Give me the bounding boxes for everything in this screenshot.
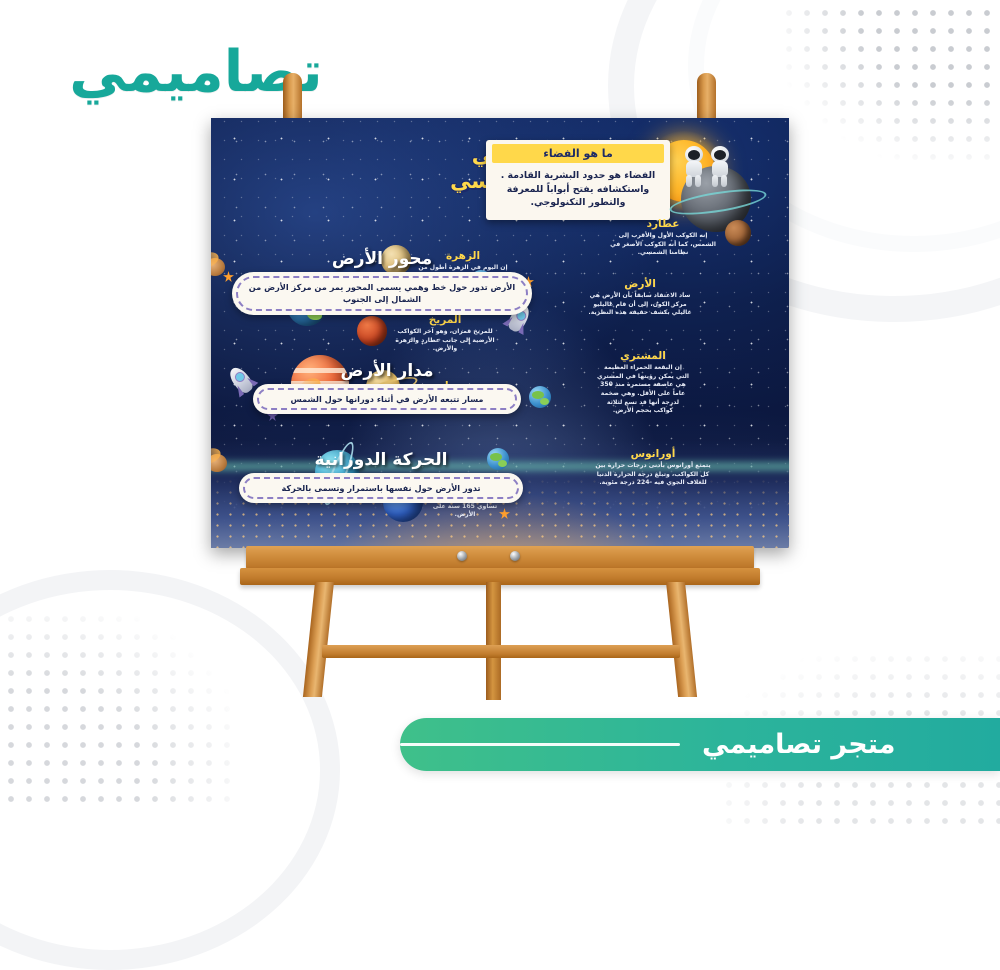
planet-name: أورانوس (595, 448, 711, 460)
planet-mercury-icon (725, 220, 751, 246)
planet-description: إن البقعة الحمراء العظيمة التي يمكن رؤيت… (597, 364, 689, 416)
brand-logo: تصاميمي (86, 26, 306, 118)
easel-leg-right (666, 582, 697, 697)
rocket-window (233, 370, 247, 384)
halftone-dots-bottom-left (0, 610, 234, 810)
astronaut-visor (688, 150, 700, 160)
easel-leg-center (486, 582, 501, 700)
planet-name: عطارد (607, 218, 719, 230)
planet-description: يتمتع أورانوس بأدنى درجات حرارة بين كل ا… (595, 462, 711, 488)
space-card-body: الفضاء هو حدود البشرية القادمة . واستكشا… (495, 169, 661, 210)
halftone-dots-top-right (780, 0, 1000, 161)
section-bubble: الأرض تدور حول خط وهمي يسمى المحور يمر م… (232, 272, 532, 315)
easel-leg-left (303, 582, 334, 697)
astronaut-leg (721, 175, 727, 187)
planet-description: للمريخ قمران، وهو آخر الكواكب الأرضية إل… (393, 328, 497, 354)
easel-crossbar (322, 645, 680, 658)
section-earth-axis: محور الأرض الأرض تدور حول خط وهمي يسمى ا… (232, 249, 532, 315)
store-footer-bar: متجر تصاميمي (400, 718, 1000, 771)
planet-entry-earth: الأرض ساد الاعتقاد سابقاً بأن الأرض هي م… (587, 278, 693, 318)
section-bubble: تدور الأرض حول نفسها باستمرار وتسمى بالح… (239, 473, 523, 503)
section-bubble: مسار تتبعه الأرض في أثناء دورانها حول ال… (253, 384, 521, 414)
section-text: الأرض تدور حول خط وهمي يسمى المحور يمر م… (246, 281, 518, 306)
planet-mars-icon (357, 316, 387, 346)
footer-rule (400, 743, 680, 746)
background-swoosh-bottom-left (0, 570, 340, 970)
section-title: الحركة الدورانية (239, 450, 523, 470)
astronaut-icon-left (683, 146, 705, 186)
easel-screw (510, 551, 520, 561)
planet-name: الأرض (587, 278, 693, 290)
section-title: مدار الأرض (253, 361, 521, 381)
planet-name: المشتري (597, 350, 689, 362)
astronaut-icon-right (709, 146, 731, 186)
easel-ledge-upper (246, 546, 754, 569)
section-text: تدور الأرض حول نفسها باستمرار وتسمى بالح… (253, 482, 509, 494)
easel-screw (457, 551, 467, 561)
planet-entry-uranus: أورانوس يتمتع أورانوس بأدنى درجات حرارة … (595, 448, 711, 488)
section-earth-orbit: مدار الأرض مسار تتبعه الأرض في أثناء دور… (253, 361, 521, 414)
planet-description: ساد الاعتقاد سابقاً بأن الأرض هي مركز ال… (587, 292, 693, 318)
planet-entry-mercury: عطارد إنه الكوكب الأول والأقرب إلى الشمس… (607, 218, 719, 258)
planet-entry-mars: المريخ للمريخ قمران، وهو آخر الكواكب الأ… (393, 314, 497, 354)
planet-entry-jupiter: المشتري إن البقعة الحمراء العظيمة التي ي… (597, 350, 689, 416)
astronaut-leg (686, 175, 692, 187)
poster-canvas: الكواكب في النظام الشمسي ما هو الفضاء ال… (211, 118, 789, 548)
section-rotational-motion: الحركة الدورانية تدور الأرض حول نفسها با… (239, 450, 523, 503)
planet-name: المريخ (393, 314, 497, 326)
astronaut-leg (695, 175, 701, 187)
mini-earth-icon (529, 386, 551, 408)
astronaut-leg (712, 175, 718, 187)
space-card-title: ما هو الفضاء (492, 144, 664, 163)
store-label: متجر تصاميمي (702, 729, 895, 760)
planet-description: إنه الكوكب الأول والأقرب إلى الشمس، كما … (607, 232, 719, 258)
section-text: مسار تتبعه الأرض في أثناء دورانها حول ال… (267, 393, 507, 405)
astronaut-visor (714, 150, 726, 160)
section-title: محور الأرض (232, 249, 532, 269)
space-definition-card: ما هو الفضاء الفضاء هو حدود البشرية القا… (486, 140, 670, 220)
